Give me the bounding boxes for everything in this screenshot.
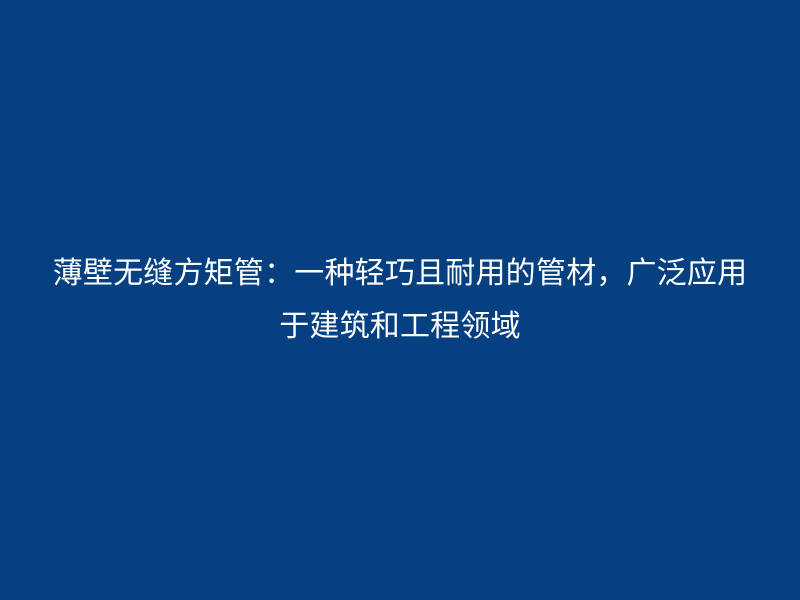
page-title: 薄壁无缝方矩管：一种轻巧且耐用的管材，广泛应用于建筑和工程领域 [50,247,750,353]
title-slide: 薄壁无缝方矩管：一种轻巧且耐用的管材，广泛应用于建筑和工程领域 [0,0,800,600]
title-block: 薄壁无缝方矩管：一种轻巧且耐用的管材，广泛应用于建筑和工程领域 [0,0,800,600]
